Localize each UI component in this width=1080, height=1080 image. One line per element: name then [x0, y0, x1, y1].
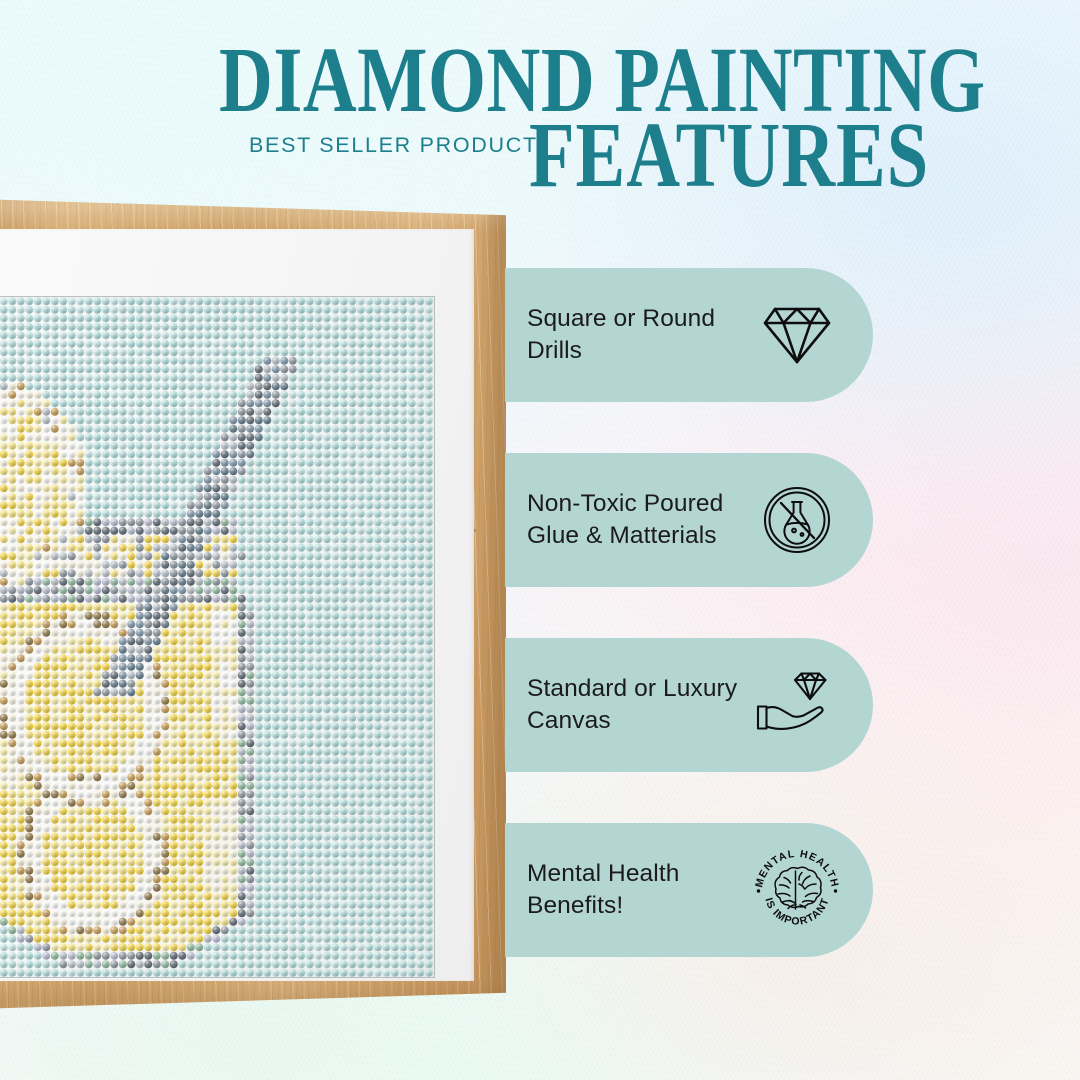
feature-pill-mental-health-benefits[interactable]: Mental Health Benefits!: [505, 823, 873, 957]
feature-list: Square or Round Drills Non-Toxic Poured …: [0, 0, 1080, 1080]
feature-label: Mental Health Benefits!: [527, 858, 742, 922]
diamond-gem-icon: [744, 285, 849, 385]
feature-label-line-2: Glue & Matterials: [527, 520, 742, 552]
hand-holding-diamond-icon: [744, 655, 849, 755]
feature-label-line-2: Benefits!: [527, 890, 742, 922]
badge-bottom-text: IS IMPORTANT: [762, 896, 831, 927]
feature-label-line-1: Square or Round Drills: [527, 305, 715, 364]
feature-label-line-2: Canvas: [527, 705, 742, 737]
feature-label-line-1: Mental Health: [527, 858, 742, 890]
feature-label-line-1: Standard or Luxury: [527, 673, 742, 705]
feature-label-line-1: Non-Toxic Poured: [527, 488, 742, 520]
feature-label: Square or Round Drills: [527, 303, 742, 367]
feature-label: Non-Toxic Poured Glue & Matterials: [527, 488, 742, 552]
mental-health-brain-badge-icon: MENTAL HEALTH IS IMPORTANT: [744, 840, 849, 940]
no-toxic-flask-icon: [744, 470, 849, 570]
feature-pill-standard-or-luxury-canvas[interactable]: Standard or Luxury Canvas: [505, 638, 873, 772]
feature-pill-non-toxic-poured-glue[interactable]: Non-Toxic Poured Glue & Matterials: [505, 453, 873, 587]
feature-pill-square-or-round-drills[interactable]: Square or Round Drills: [505, 268, 873, 402]
feature-label: Standard or Luxury Canvas: [527, 673, 742, 737]
